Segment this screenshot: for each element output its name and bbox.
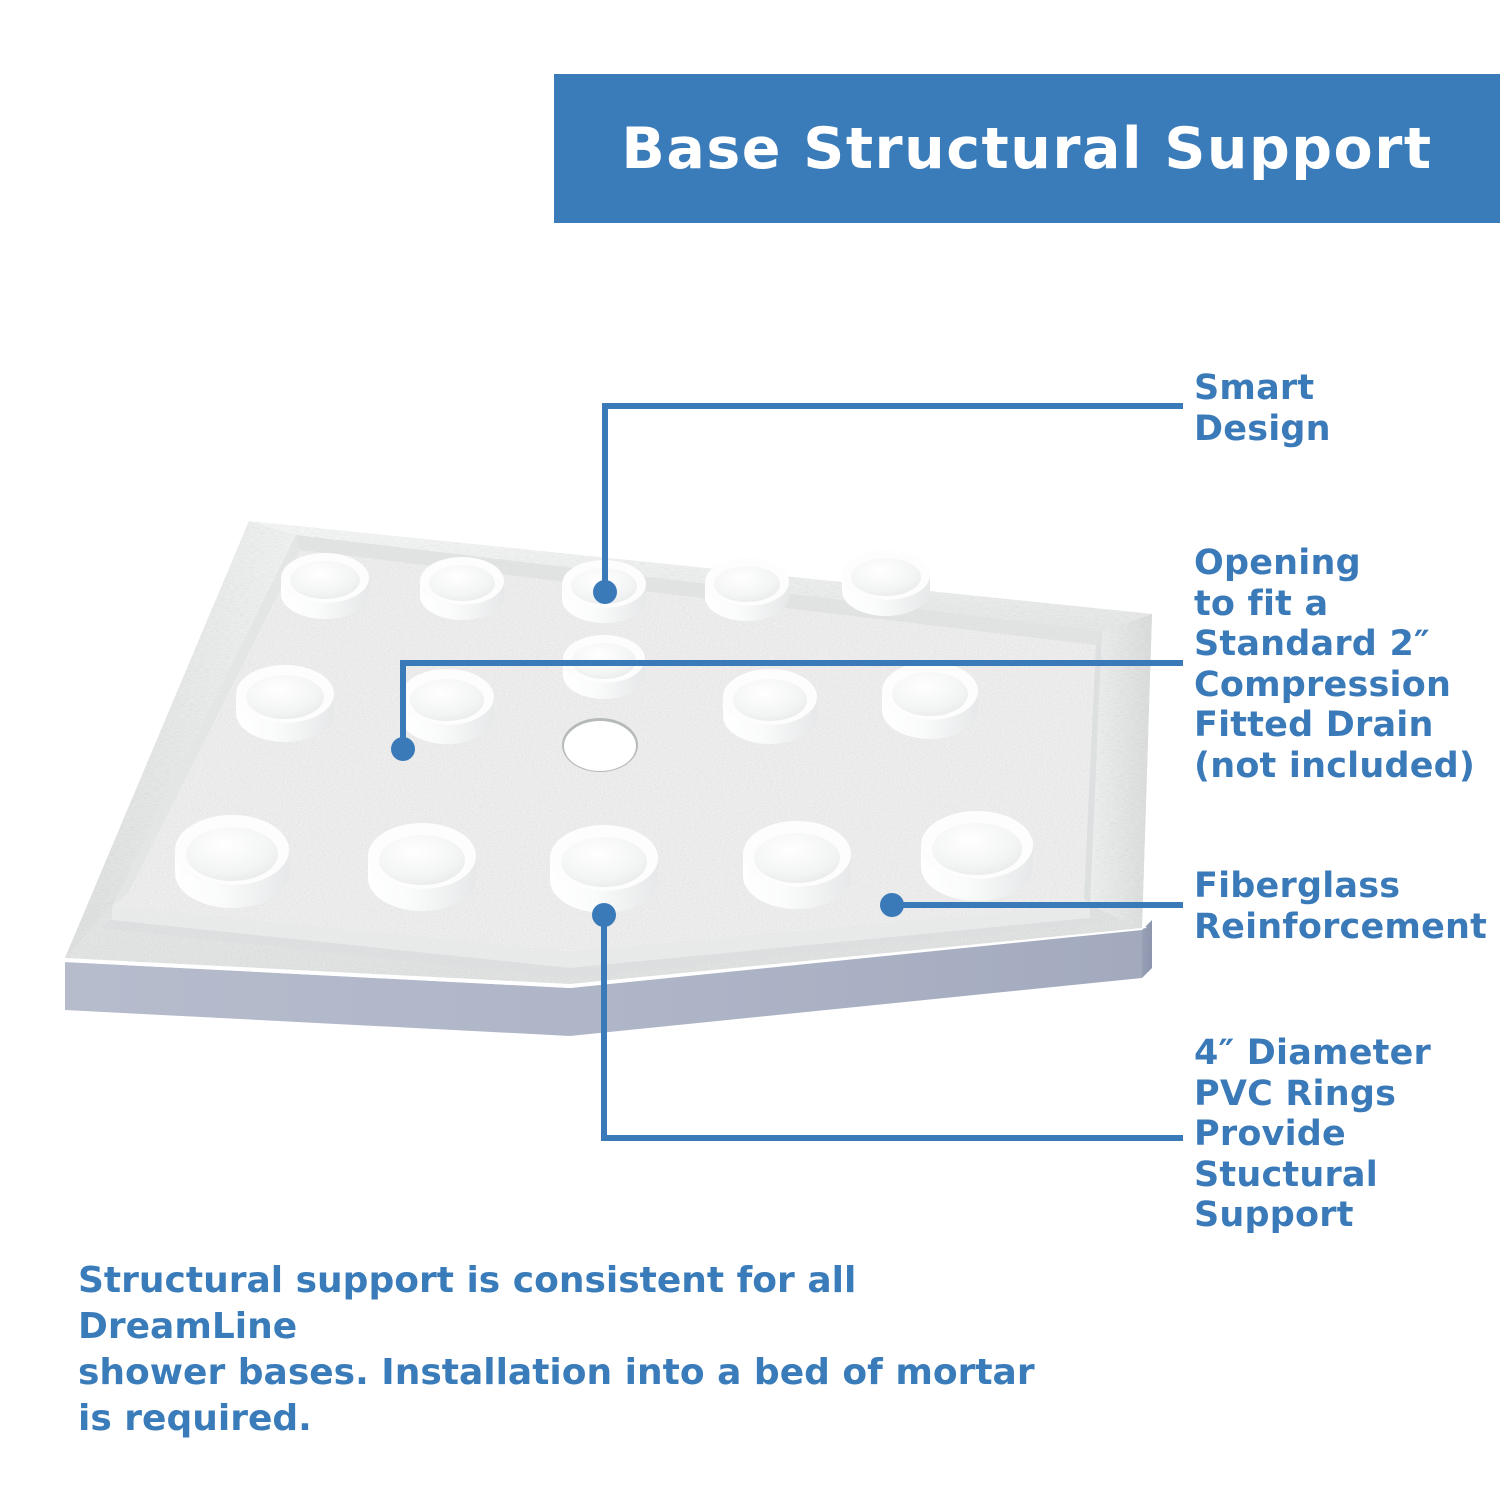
leader-dot-smart-design [593, 580, 617, 604]
leader-line-drain-opening [403, 663, 1180, 749]
infographic-root: Base Structural Support Smart Design Ope… [0, 0, 1500, 1500]
leader-dot-drain-opening [391, 737, 415, 761]
callout-label-smart-design: Smart Design [1194, 368, 1331, 449]
callout-label-fiberglass-reinforcement: Fiberglass Reinforcement [1194, 866, 1487, 947]
callout-label-pvc-rings: 4″ Diameter PVC Rings Provide Stuctural … [1194, 1033, 1431, 1236]
leader-dot-fiberglass [880, 893, 904, 917]
title-banner: Base Structural Support [554, 74, 1500, 223]
leader-line-smart-design [605, 406, 1180, 592]
leader-line-pvc-rings [604, 915, 1180, 1138]
callout-label-drain-opening: Opening to fit a Standard 2″ Compression… [1194, 543, 1475, 787]
leader-dot-pvc-rings [592, 903, 616, 927]
footer-caption: Structural support is consistent for all… [78, 1258, 1038, 1442]
page-title: Base Structural Support [621, 116, 1432, 182]
